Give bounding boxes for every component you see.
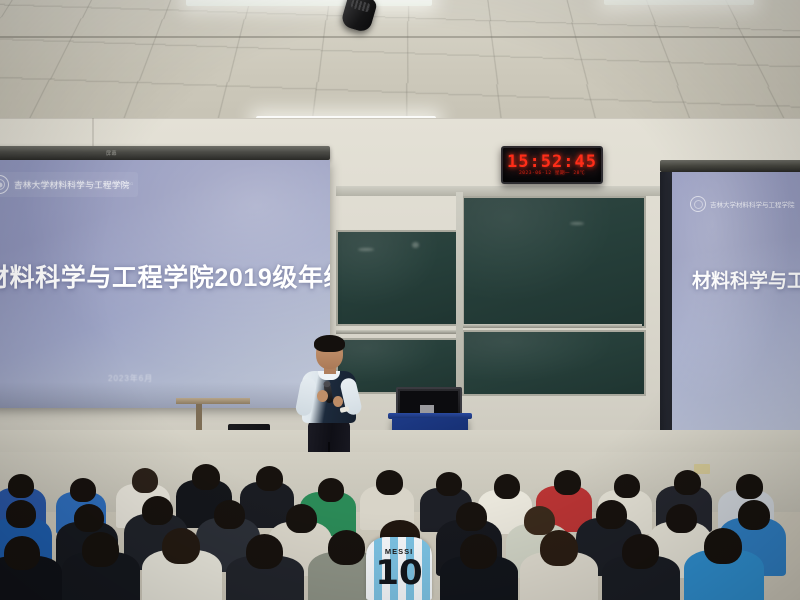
chalk-tray bbox=[336, 330, 458, 334]
ceiling-light-panel bbox=[604, 0, 754, 5]
chalk-smudge bbox=[358, 248, 374, 251]
audience-head bbox=[8, 474, 34, 498]
right-slide-title: 材料科学与工 bbox=[692, 266, 800, 293]
clock-date-line: 2023-06-12 星期一 28℃ bbox=[519, 172, 585, 177]
audience-head bbox=[376, 470, 403, 495]
audience-head bbox=[142, 496, 173, 525]
audience-head bbox=[494, 474, 520, 499]
slide-logo-subtext: COLLEGE OF MATERIALS SCIENCE AND ENGINEE… bbox=[16, 182, 134, 186]
ceiling-tile-grid bbox=[0, 0, 800, 130]
audience-head bbox=[70, 478, 96, 502]
audience-head bbox=[192, 464, 220, 490]
audience-head bbox=[666, 504, 697, 533]
presenter-hand-right bbox=[333, 396, 343, 407]
ceiling bbox=[0, 0, 800, 130]
messi-jersey: MESSI 10 bbox=[366, 537, 432, 600]
right-slide-logo-text: 吉林大学材料科学与工程学院 bbox=[710, 199, 795, 209]
blackboard-panel-left-upper bbox=[336, 230, 462, 326]
side-desk bbox=[176, 398, 250, 404]
audience-head bbox=[674, 470, 701, 495]
audience-head bbox=[246, 534, 283, 569]
slide-title: 材料科学与工程学院2019级年级大会 bbox=[0, 258, 330, 294]
presenter-hand-left bbox=[317, 390, 328, 402]
right-slide-logo: 吉林大学材料科学与工程学院 bbox=[690, 196, 795, 212]
housing-label: 屏幕 bbox=[106, 150, 117, 157]
audience-head bbox=[162, 528, 200, 564]
audience-head bbox=[736, 474, 763, 499]
chalk-smudge bbox=[570, 222, 584, 225]
audience-head bbox=[328, 530, 365, 565]
chalk-smudge bbox=[412, 242, 419, 248]
audience-head bbox=[540, 530, 578, 566]
audience-head bbox=[4, 536, 40, 570]
audience-head bbox=[286, 504, 317, 533]
chalk-tray bbox=[462, 324, 642, 328]
audience-head bbox=[460, 534, 497, 569]
audience-head bbox=[214, 500, 245, 529]
audience-head bbox=[704, 528, 742, 564]
audience-head bbox=[554, 470, 581, 495]
led-wall-clock: 15:52:45 2023-06-12 星期一 28℃ bbox=[501, 146, 603, 184]
ceiling-beam bbox=[0, 36, 800, 38]
projector-screen-housing: 屏幕 bbox=[0, 146, 330, 160]
clock-time: 15:52:45 bbox=[507, 154, 597, 171]
audience-head bbox=[82, 532, 119, 567]
blackboard-panel-right-upper bbox=[462, 196, 646, 328]
blackboard-panel-right-lower bbox=[462, 330, 646, 396]
audience-head bbox=[738, 500, 770, 530]
audience-head bbox=[456, 502, 487, 531]
lecture-hall-photo: 屏幕 吉林大学材料科学与工程学院 COLLEGE OF MATERIALS SC… bbox=[0, 0, 800, 600]
blackboard-divider bbox=[456, 192, 463, 392]
audience-head bbox=[614, 474, 640, 498]
blackboard-top-frame bbox=[336, 186, 672, 196]
audience-head bbox=[132, 468, 158, 493]
audience-head bbox=[436, 472, 462, 496]
presenter-hair bbox=[314, 335, 345, 352]
university-seal-icon bbox=[0, 175, 9, 194]
audience-head bbox=[6, 500, 36, 528]
slide-date: 2023年6月 bbox=[108, 373, 153, 384]
audience-head bbox=[622, 534, 659, 569]
audience-head bbox=[596, 500, 627, 529]
audience-head bbox=[74, 504, 104, 532]
wall-seam bbox=[0, 118, 800, 119]
projector-screen-housing-right bbox=[660, 160, 800, 172]
ceiling-light-panel bbox=[186, 0, 432, 6]
audience-head bbox=[318, 478, 344, 502]
projection-screen-main: 吉林大学材料科学与工程学院 COLLEGE OF MATERIALS SCIEN… bbox=[0, 160, 330, 408]
projection-screen-right: 吉林大学材料科学与工程学院 材料科学与工 bbox=[672, 172, 800, 434]
audience-head bbox=[256, 466, 283, 491]
jersey-number: 10 bbox=[366, 556, 432, 590]
university-seal-icon bbox=[690, 196, 706, 212]
